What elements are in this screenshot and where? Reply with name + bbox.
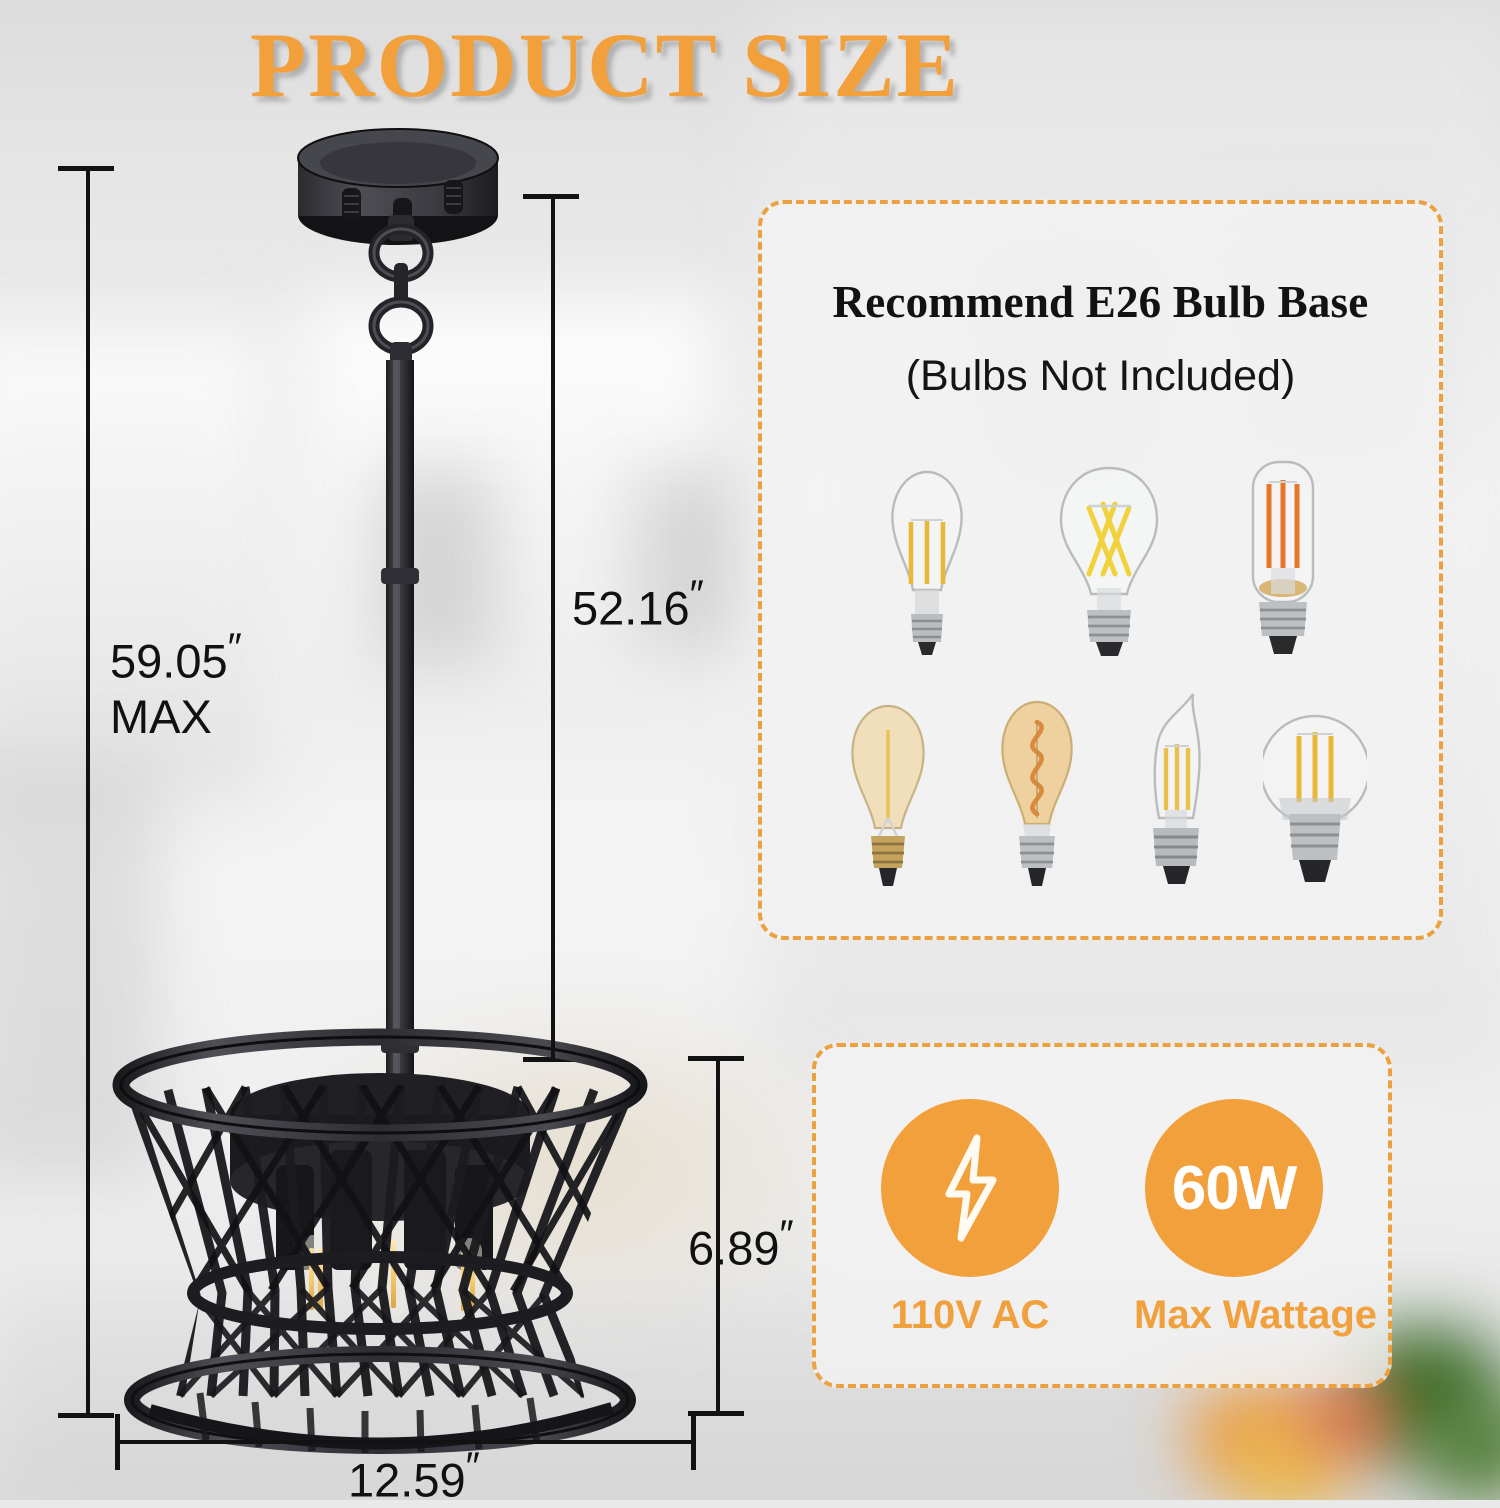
voltage-label: 110V AC	[870, 1293, 1070, 1338]
recommended-bulb-card: Recommend E26 Bulb Base (Bulbs Not Inclu…	[758, 200, 1443, 940]
background-fruit-red	[1300, 1385, 1410, 1455]
bulb-g45-globe	[1263, 702, 1367, 902]
dimension-value-drop-height: 52.16	[572, 582, 690, 635]
dimension-label-total-height: 59.05″ MAX	[110, 625, 241, 745]
dimension-value-width: 12.59	[348, 1454, 466, 1507]
power-spec-wattage: 60W Max Wattage	[1134, 1099, 1334, 1338]
dimension-note-total-height: MAX	[110, 690, 212, 743]
bulb-st64-clear	[873, 464, 981, 662]
dimension-label-width: 12.59″	[348, 1444, 479, 1508]
page-title: PRODUCT SIZE	[0, 12, 1210, 118]
dimension-line-total-height	[86, 168, 90, 1418]
bulb-t45-tubular	[1237, 458, 1329, 662]
dimension-unit-width: ″	[466, 1445, 479, 1489]
dimension-unit-total-height: ″	[228, 626, 241, 670]
voltage-badge	[881, 1099, 1059, 1277]
power-spec-voltage: 110V AC	[870, 1099, 1070, 1338]
lightning-bolt-icon	[927, 1132, 1013, 1244]
bulb-st64-amber	[835, 696, 941, 902]
bulb-card-subheading: (Bulbs Not Included)	[762, 352, 1439, 401]
bulb-row-bottom	[762, 682, 1439, 902]
bulb-a19-clear	[1053, 462, 1165, 662]
dimension-unit-drop-height: ″	[690, 573, 703, 617]
wattage-value: 60W	[1172, 1153, 1296, 1224]
bulb-c35-flame-tip	[1133, 690, 1219, 902]
dimension-label-drop-height: 52.16″	[572, 572, 703, 636]
bulb-st64-spiral-amber	[985, 690, 1089, 902]
dimension-line-drop-height	[551, 196, 555, 1060]
power-spec-row: 110V AC 60W Max Wattage	[816, 1099, 1388, 1338]
bulb-row-top	[762, 462, 1439, 662]
dimension-value-shade-height: 6.89	[688, 1222, 779, 1275]
dimension-unit-shade-height: ″	[779, 1213, 792, 1257]
product-image-pendant-chandelier	[0, 0, 760, 1500]
dimension-value-total-height: 59.05	[110, 635, 228, 688]
background-fruit-green-2	[1430, 1400, 1500, 1500]
bulb-card-heading: Recommend E26 Bulb Base	[762, 276, 1439, 328]
dimension-label-shade-height: 6.89″	[688, 1212, 793, 1276]
wattage-label: Max Wattage	[1134, 1293, 1334, 1338]
power-spec-card: 110V AC 60W Max Wattage	[812, 1043, 1392, 1388]
wattage-badge: 60W	[1145, 1099, 1323, 1277]
